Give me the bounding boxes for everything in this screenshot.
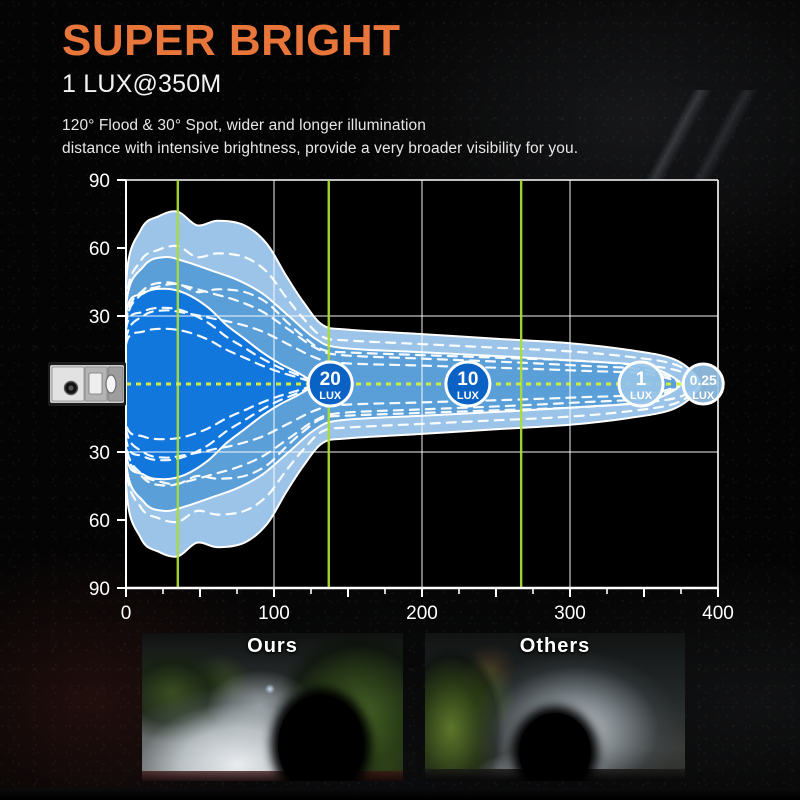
lux-badge-unit: LUX (457, 390, 480, 402)
lux-badge-0.25: 0.25LUX (683, 364, 723, 404)
lux-badge-value: 1 (636, 369, 647, 390)
description-block: 120° Flood & 30° Spot, wider and longer … (62, 115, 762, 160)
description-line-2: distance with intensive brightness, prov… (62, 138, 762, 160)
page-subtitle: 1 LUX@350M (62, 70, 762, 99)
lux-badge-unit: LUX (630, 390, 653, 402)
y-tick-label: 30 (89, 307, 110, 328)
lux-badge-value: 20 (320, 369, 341, 390)
panel-caption-others: Others (425, 633, 685, 658)
lux-badge-10: 10LUX (446, 362, 490, 406)
beam-chart-svg: 9060300306090 0100200300400 20LUX10LUX1L… (0, 170, 800, 620)
y-tick-label: 90 (89, 171, 110, 192)
description-line-1: 120° Flood & 30° Spot, wider and longer … (62, 115, 762, 137)
lux-badge-unit: LUX (319, 390, 342, 402)
x-tick-label: 100 (258, 603, 290, 620)
x-axis-tick-labels: 0100200300400 (121, 603, 734, 620)
x-tick-label: 0 (121, 603, 132, 620)
lux-badge-1: 1LUX (619, 362, 663, 406)
lux-badge-20: 20LUX (308, 362, 352, 406)
y-tick-label: 60 (89, 511, 110, 532)
y-tick-label: 60 (89, 239, 110, 260)
comparison-panel-ours: Ours (142, 633, 403, 781)
lux-badge-value: 0.25 (690, 372, 717, 388)
product-infographic: SUPER BRIGHT 1 LUX@350M 120° Flood & 30°… (0, 0, 800, 800)
lux-badge-value: 10 (457, 369, 478, 390)
header-block: SUPER BRIGHT 1 LUX@350M 120° Flood & 30°… (62, 18, 762, 160)
x-tick-label: 400 (702, 603, 734, 620)
panel-caption-ours: Ours (142, 633, 403, 658)
x-tick-label: 200 (406, 603, 438, 620)
bottom-edge-bar (0, 788, 800, 800)
beam-pattern-chart: 9060300306090 0100200300400 20LUX10LUX1L… (0, 170, 800, 620)
page-title: SUPER BRIGHT (62, 18, 762, 64)
comparison-panel-others: Others (425, 633, 685, 781)
y-tick-label: 90 (89, 579, 110, 600)
y-tick-label: 30 (89, 443, 110, 464)
led-light-bar-icon (48, 362, 126, 406)
x-tick-label: 300 (554, 603, 586, 620)
redaction-blob-icon (519, 713, 591, 781)
lux-badge-unit: LUX (692, 390, 715, 402)
